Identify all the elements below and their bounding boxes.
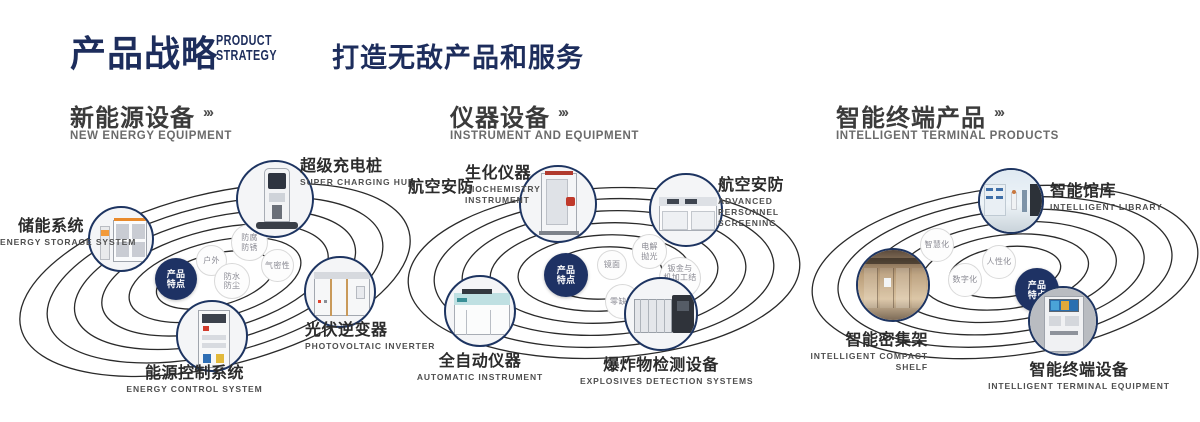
chevron-right-icon: ››› [203, 104, 212, 121]
feature-bubble-digital: 数字化 [948, 263, 982, 297]
poster-canvas: 产品战略 PRODUCT STRATEGY 打造无敌产品和服务 新能源设备›››… [0, 0, 1200, 422]
caption-explosives-detection: 爆炸物检测设备 EXPLOSIVES DETECTION SYSTEMS [580, 351, 742, 386]
orbit-cluster-instrument: 产品 特点 镜面 电解抛光 零缺陷 钣金与机加工结合 [396, 155, 816, 390]
section-title-instrument: 仪器设备››› [450, 98, 567, 133]
core-bubble-line2: 特点 [167, 279, 186, 290]
feature-bubble-waterproof: 防水防尘 [214, 263, 250, 299]
caption-cn: 智能密集架 [800, 326, 928, 350]
caption-energy-storage: 储能系统 ENERGY STORAGE SYSTEM [0, 212, 84, 247]
section-subtitle-instrument: INSTRUMENT AND EQUIPMENT [450, 130, 639, 142]
core-bubble-line1: 产品 [557, 265, 576, 276]
node-photo-explosives-detection[interactable] [624, 277, 698, 351]
caption-automatic-instrument: 全自动仪器 AUTOMATIC INSTRUMENT [406, 347, 554, 382]
chevron-right-icon: ››› [558, 104, 567, 121]
node-photo-automatic-instrument[interactable] [444, 275, 516, 347]
core-bubble-product-features: 产品 特点 [544, 253, 588, 297]
node-photo-advanced-personnel-screening[interactable] [649, 173, 723, 247]
section-title-new-energy: 新能源设备››› [70, 98, 212, 133]
page-title-english: PRODUCT STRATEGY [216, 33, 277, 63]
feature-bubble-humanized: 人性化 [982, 245, 1016, 279]
node-photo-intelligent-compact-shelf[interactable] [856, 248, 930, 322]
page-title: 产品战略 [70, 25, 218, 77]
core-bubble-line1: 产品 [167, 269, 186, 280]
core-bubble-product-features: 产品 特点 [155, 258, 197, 300]
caption-cn: 爆炸物检测设备 [580, 351, 742, 375]
section-subtitle-intelligent-terminal: INTELLIGENT TERMINAL PRODUCTS [836, 130, 1059, 142]
section-title-intelligent-terminal: 智能终端产品››› [836, 98, 1003, 133]
orbit-cluster-new-energy: 产品 特点 户外 防腐防锈 防水防尘 气密性 [0, 150, 420, 390]
caption-cn: 智能馆库 [1050, 177, 1163, 201]
caption-intelligent-compact-shelf: 智能密集架 INTELLIGENT COMPACT SHELF [800, 326, 928, 373]
caption-en: BIOCHEMISTRY INSTRUMENT [465, 184, 557, 206]
page-title-english-line1: PRODUCT [216, 33, 277, 48]
chevron-right-icon: ››› [994, 104, 1003, 121]
section-title-cn: 仪器设备 [450, 98, 550, 133]
feature-bubble-airtight: 气密性 [261, 249, 294, 282]
orbit-cluster-intelligent-terminal: 智慧化 数字化 人性化 产品 特点 [800, 160, 1200, 395]
feature-bubble-mirror-finish: 镜面 [597, 250, 627, 280]
node-photo-intelligent-library[interactable] [978, 168, 1044, 234]
caption-cn: 能源控制系统 [82, 359, 307, 383]
caption-cn: 智能终端设备 [958, 356, 1200, 380]
section-title-cn: 新能源设备 [70, 98, 195, 133]
caption-en: INTELLIGENT TERMINAL EQUIPMENT [958, 381, 1200, 391]
caption-cn: 生化仪器 [465, 159, 557, 183]
caption-cn: 全自动仪器 [406, 347, 554, 371]
caption-energy-control-system: 能源控制系统 ENERGY CONTROL SYSTEM [82, 359, 307, 394]
core-bubble-line2: 特点 [557, 275, 576, 286]
caption-en: ENERGY CONTROL SYSTEM [82, 384, 307, 394]
caption-en: INTELLIGENT COMPACT SHELF [800, 351, 928, 373]
section-subtitle-new-energy: NEW ENERGY EQUIPMENT [70, 130, 232, 142]
caption-intelligent-library: 智能馆库 INTELLIGENT LIBRARY [1050, 177, 1163, 212]
caption-intelligent-terminal-equipment: 智能终端设备 INTELLIGENT TERMINAL EQUIPMENT [958, 356, 1200, 391]
caption-en: EXPLOSIVES DETECTION SYSTEMS [580, 376, 742, 386]
caption-en: AUTOMATIC INSTRUMENT [406, 372, 554, 382]
caption-en: INTELLIGENT LIBRARY [1050, 202, 1163, 212]
page-title-english-line2: STRATEGY [216, 48, 277, 63]
caption-cn: 储能系统 [0, 212, 84, 236]
caption-en: ENERGY STORAGE SYSTEM [0, 237, 84, 247]
page-slogan: 打造无敌产品和服务 [332, 36, 584, 75]
node-photo-intelligent-terminal-equipment[interactable] [1028, 286, 1098, 356]
caption-biochemistry-instrument: 生化仪器 BIOCHEMISTRY INSTRUMENT [465, 159, 557, 206]
section-title-cn: 智能终端产品 [836, 98, 986, 133]
